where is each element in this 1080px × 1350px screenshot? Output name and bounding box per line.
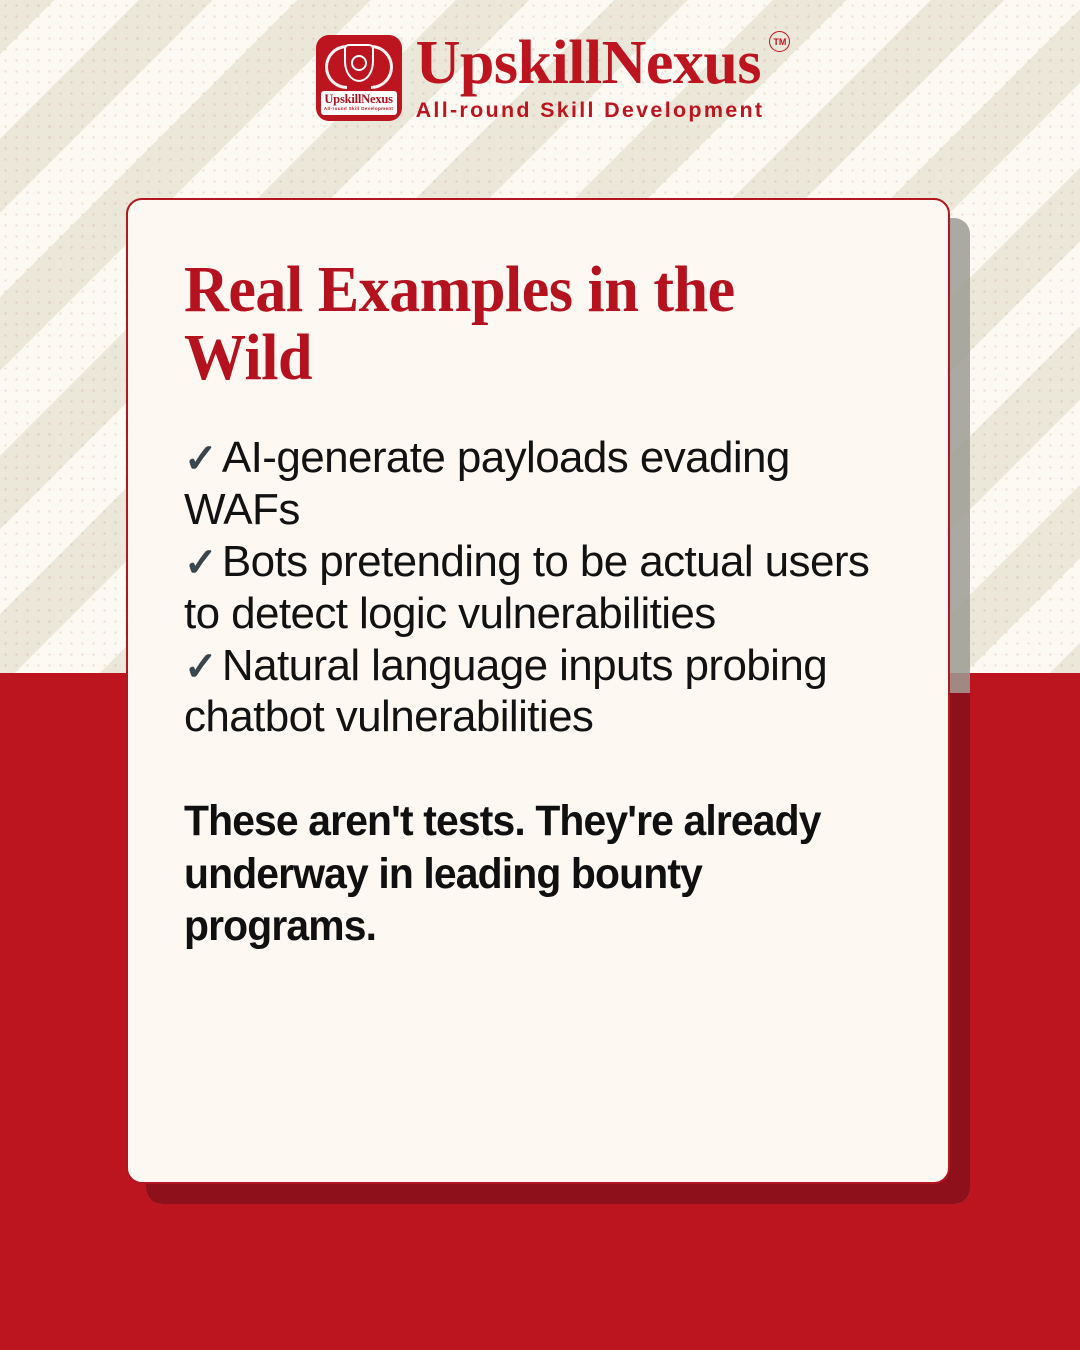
list-item: ✓AI-generate payloads evading WAFs — [184, 432, 900, 536]
check-icon: ✓ — [184, 541, 217, 585]
list-item-label: AI-generate payloads evading WAFs — [184, 433, 790, 534]
shield-icon — [344, 44, 374, 82]
brand-tagline: All-round Skill Development — [416, 98, 765, 123]
logo-nameplate: UpskillNexus All-round Skill Development — [321, 91, 397, 115]
check-icon: ✓ — [184, 645, 217, 689]
brand-header: UpskillNexus All-round Skill Development… — [0, 28, 1080, 128]
page-title: Real Examples in the Wild — [184, 256, 857, 392]
brand-wordmark: UpskillNexus TM All-round Skill Developm… — [416, 33, 765, 123]
trademark-icon: TM — [769, 31, 790, 52]
list-item: ✓Natural language inputs probing chatbot… — [184, 640, 900, 744]
laurel-wreath-right-icon — [371, 45, 393, 89]
list-item-label: Natural language inputs probing chatbot … — [184, 641, 827, 742]
logo-plate-name: UpskillNexus — [322, 93, 396, 106]
upskillnexus-logo-icon: UpskillNexus All-round Skill Development — [316, 35, 402, 121]
check-icon: ✓ — [184, 437, 217, 481]
closing-statement: These aren't tests. They're already unde… — [184, 795, 864, 952]
list-item-label: Bots pretending to be actual users to de… — [184, 537, 869, 638]
brand-name: UpskillNexus — [416, 33, 765, 94]
benefits-list: ✓AI-generate payloads evading WAFs ✓Bots… — [184, 432, 900, 743]
logo-plate-tagline: All-round Skill Development — [322, 107, 396, 112]
content-card: Real Examples in the Wild ✓AI-generate p… — [126, 198, 950, 1184]
list-item: ✓Bots pretending to be actual users to d… — [184, 536, 900, 640]
